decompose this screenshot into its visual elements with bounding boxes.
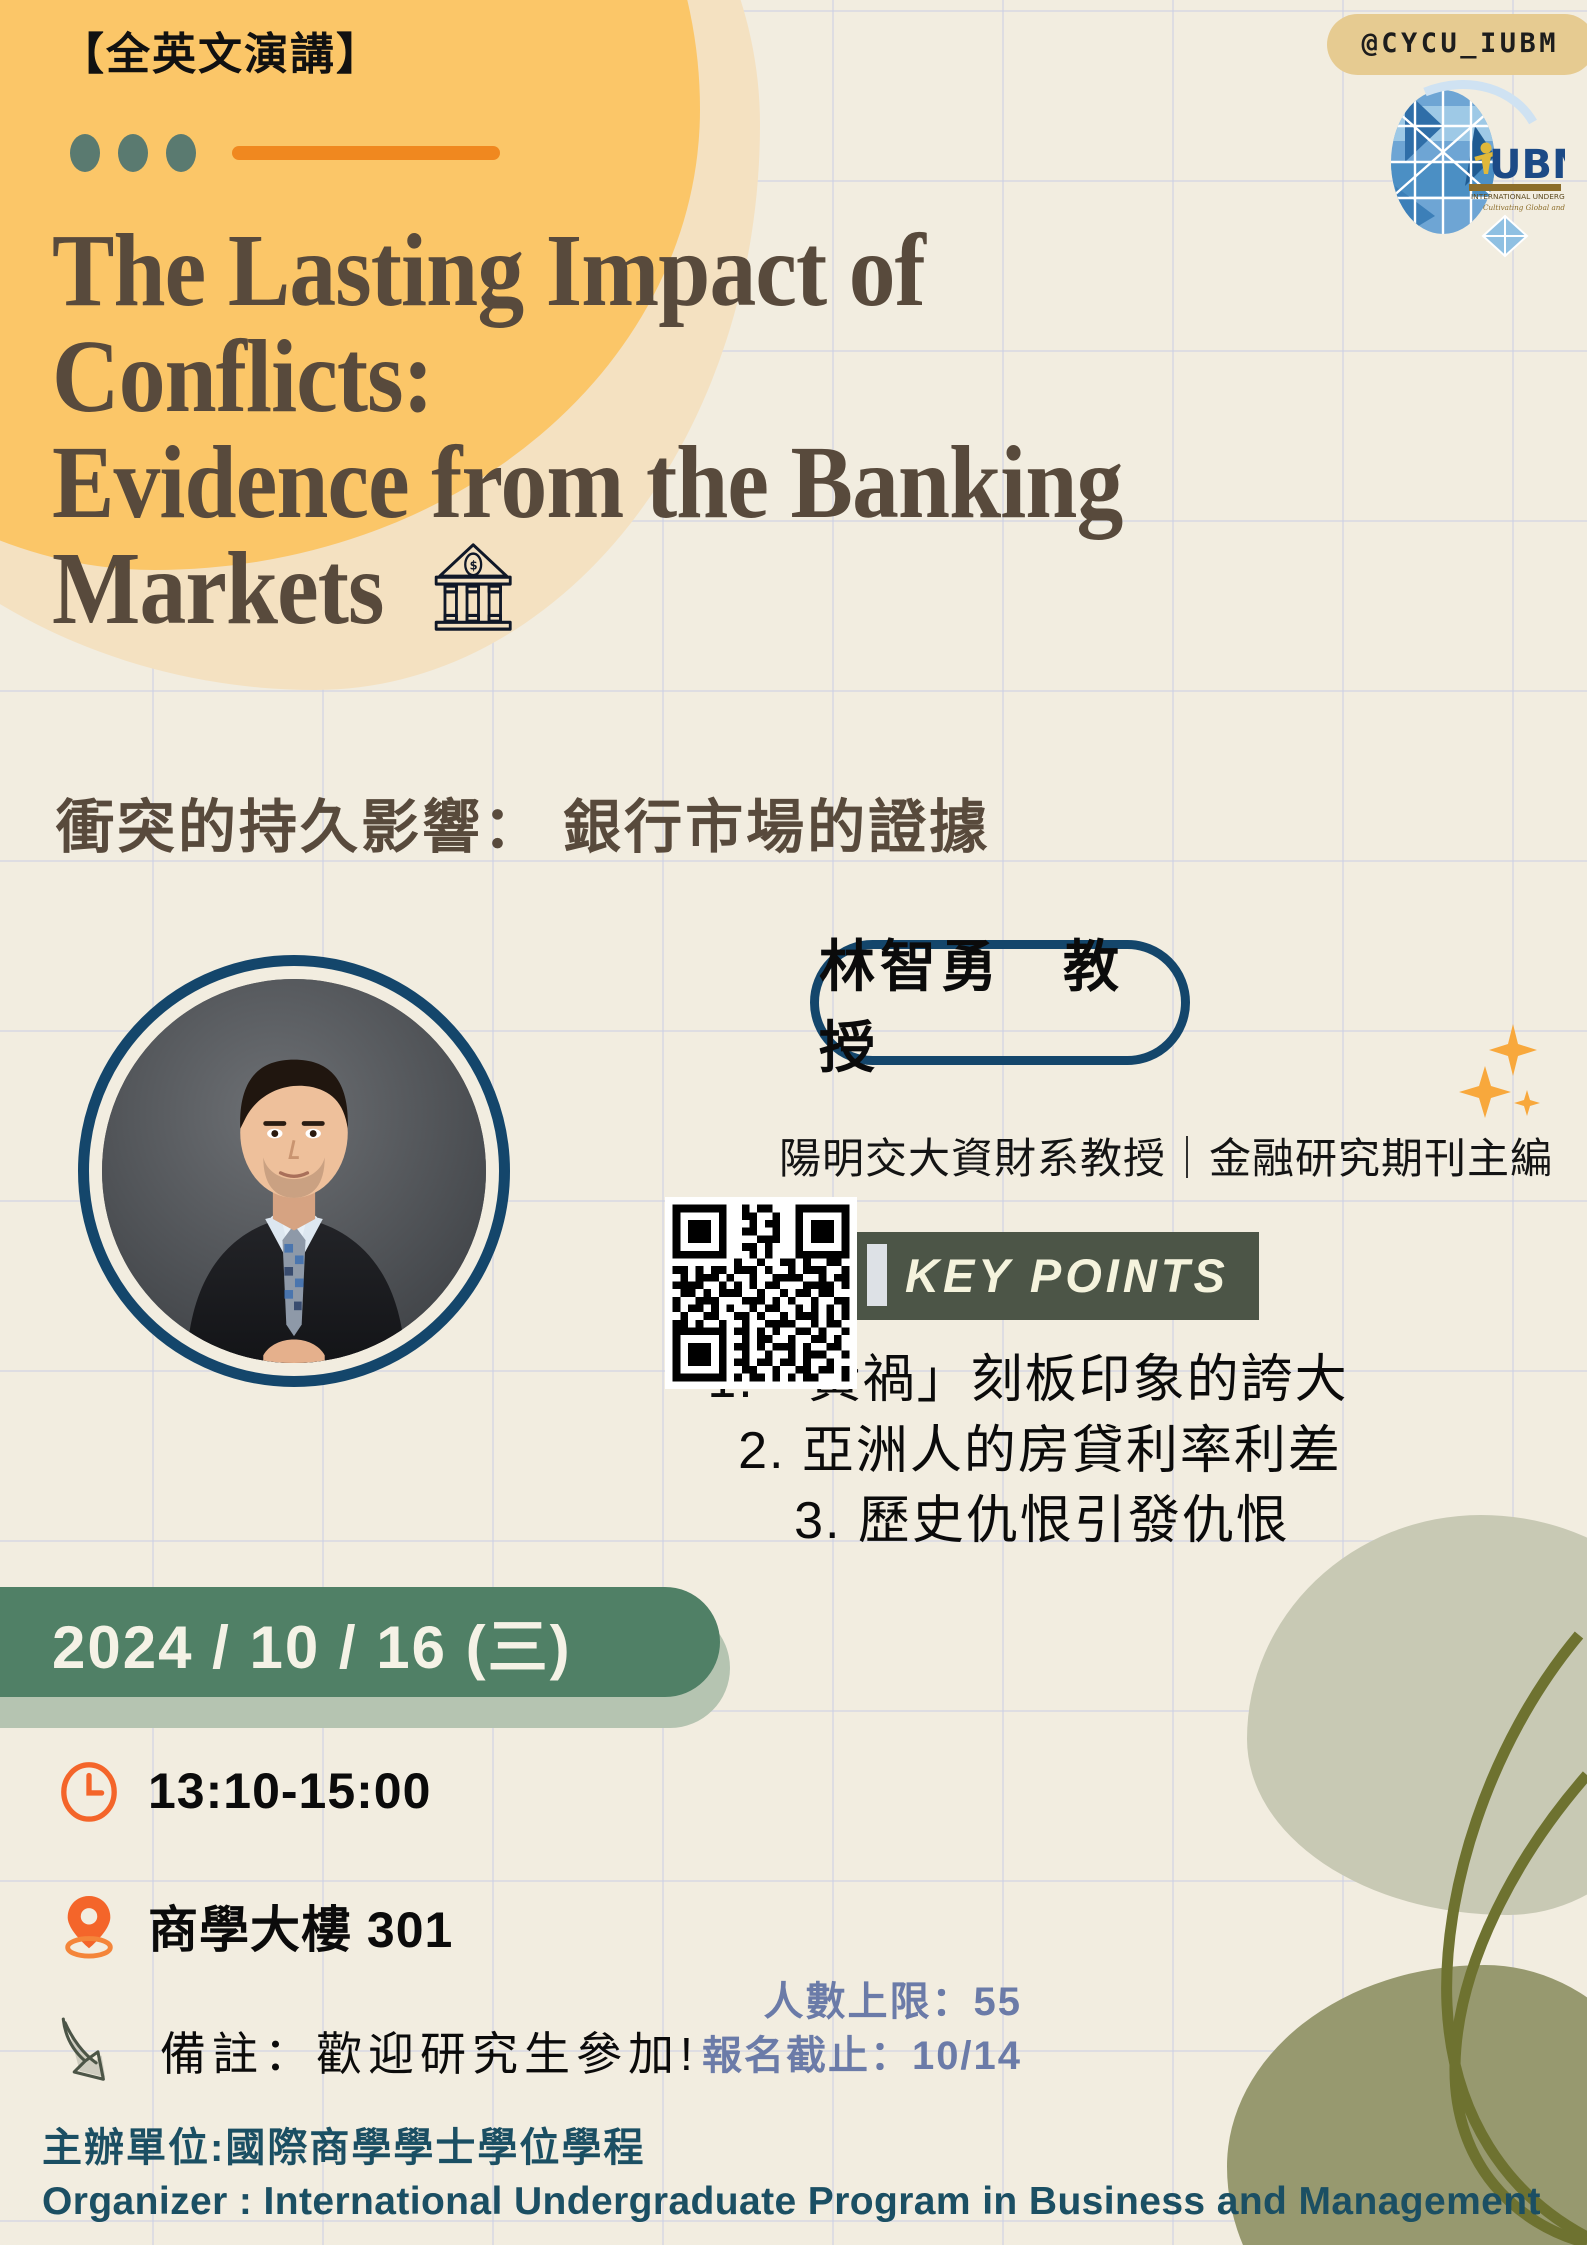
event-time-row: 13:10-15:00 — [58, 1760, 431, 1822]
globe-icon: UBM INTERNATIONAL UNDERGRADUATE IN BUSIN… — [1365, 66, 1565, 266]
svg-text:INTERNATIONAL UNDERGRADUATE IN: INTERNATIONAL UNDERGRADUATE IN BUSINESS — [1471, 192, 1565, 201]
title-line-1: The Lasting Impact of — [52, 218, 979, 324]
clock-icon — [58, 1760, 120, 1822]
svg-text:$: $ — [470, 558, 478, 573]
deadline-text: 報名截止：10/14 — [702, 2029, 1022, 2083]
decorative-dots — [70, 134, 196, 172]
dot-2 — [118, 134, 148, 172]
event-time: 13:10-15:00 — [148, 1762, 431, 1820]
page-subtitle-chinese: 衝突的持久影響： 銀行市場的證據 — [56, 780, 990, 864]
location-pin-icon — [58, 1892, 120, 1960]
organizer-english: Organizer : International Undergraduate … — [42, 2180, 1541, 2224]
page-title: The Lasting Impact of Conflicts: Evidenc… — [52, 218, 979, 654]
registration-info: 人數上限：55 報名截止：10/14 — [702, 1975, 1022, 2083]
page-kicker: 【全英文演講】 — [60, 18, 382, 82]
title-line-4-wrap: Markets — [52, 536, 979, 654]
speaker-avatar — [102, 979, 486, 1363]
sparkle-icon — [1455, 1020, 1545, 1130]
event-location: 商學大樓 301 — [148, 1890, 453, 1962]
key-points-heading: KEY POINTS — [845, 1232, 1259, 1320]
dot-3 — [166, 134, 196, 172]
event-note: 備註：歡迎研究生參加! — [160, 2018, 699, 2084]
arrow-doodle-icon — [56, 2010, 138, 2092]
event-location-row: 商學大樓 301 — [58, 1890, 453, 1962]
event-poster: 【全英文演講】 @CYCU_IUBM — [0, 0, 1587, 2245]
title-line-2: Conflicts: — [52, 324, 979, 430]
speaker-name-badge: 林智勇 教授 — [810, 940, 1190, 1065]
decorative-vine-lines — [1187, 1625, 1587, 2245]
event-note-row: 備註：歡迎研究生參加! — [56, 2010, 699, 2092]
dot-1 — [70, 134, 100, 172]
event-date: 2024 / 10 / 16 (三) — [52, 1599, 572, 1686]
organizer-chinese: 主辦單位:國際商學學士學位學程 — [42, 2115, 645, 2173]
decorative-rule — [232, 146, 500, 160]
speaker-credentials: 陽明交大資財系教授｜金融研究期刊主編 — [779, 1125, 1587, 1186]
capacity-text: 人數上限：55 — [702, 1975, 1022, 2029]
registration-qr-code[interactable] — [665, 1197, 857, 1389]
key-point-item: 2. 亞洲人的房貸利率利差 — [550, 1416, 1530, 1487]
iubm-logo: UBM INTERNATIONAL UNDERGRADUATE IN BUSIN… — [1365, 66, 1565, 266]
title-line-3: Evidence from the Banking — [52, 430, 979, 536]
speaker-photo-frame — [78, 955, 510, 1387]
title-line-4: Markets — [52, 531, 384, 646]
bank-icon: $ — [429, 537, 517, 654]
key-point-item: 3. 歷史仇恨引發仇恨 — [554, 1486, 1530, 1557]
date-banner: 2024 / 10 / 16 (三) — [0, 1587, 720, 1697]
svg-text:UBM: UBM — [1489, 142, 1565, 188]
heading-accent-bar — [867, 1244, 887, 1306]
key-points-heading-label: KEY POINTS — [905, 1248, 1229, 1303]
svg-text:Cultivating Global and Ethical: Cultivating Global and Ethical Business … — [1483, 203, 1565, 212]
